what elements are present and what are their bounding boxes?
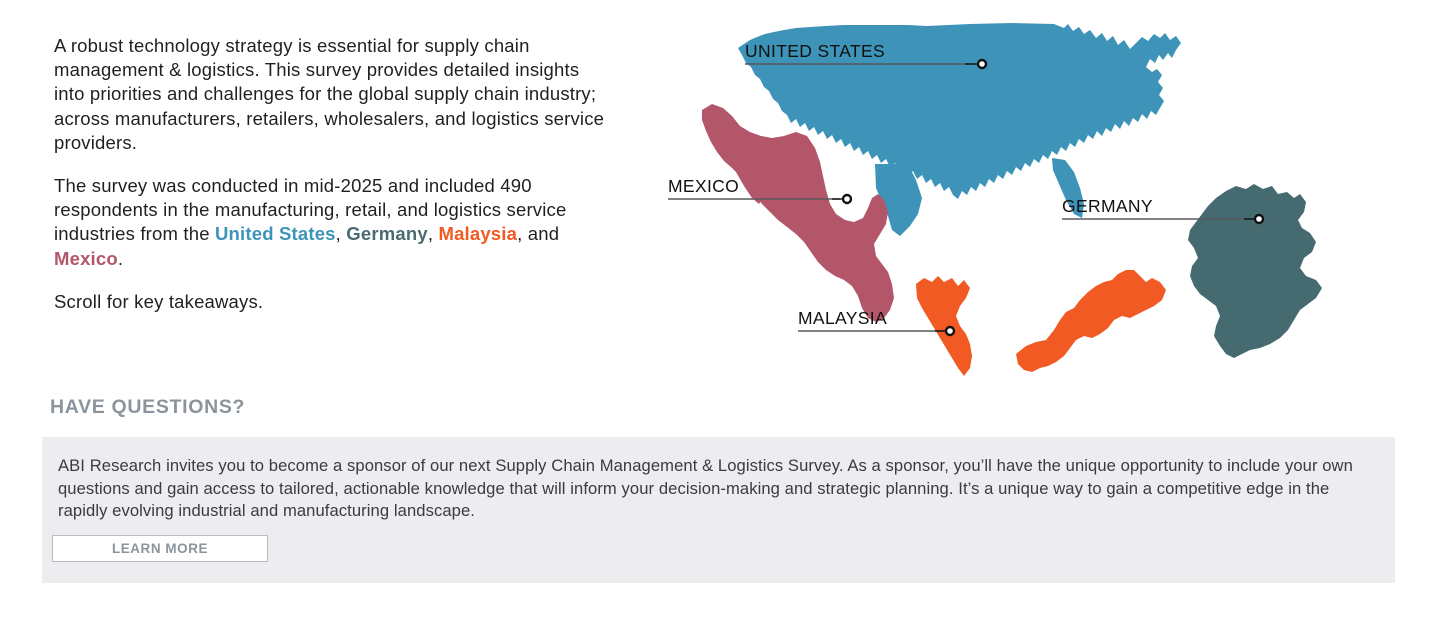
sponsor-callout-panel: ABI Research invites you to become a spo… bbox=[42, 437, 1395, 583]
intro-paragraph-1: A robust technology strategy is essentia… bbox=[54, 34, 614, 155]
map-marker-united-states bbox=[978, 60, 986, 68]
intro-text-column: A robust technology strategy is essentia… bbox=[54, 34, 614, 314]
separator-3: , and bbox=[517, 223, 559, 244]
learn-more-button[interactable]: LEARN MORE bbox=[52, 535, 268, 562]
have-questions-heading: HAVE QUESTIONS? bbox=[50, 396, 245, 419]
malaysia-peninsular-shape bbox=[916, 276, 972, 376]
intro-paragraph-3: Scroll for key takeaways. bbox=[54, 290, 614, 314]
map-marker-malaysia bbox=[946, 327, 954, 335]
map-svg: UNITED STATES MEXICO GERMANY MALAYSIA bbox=[660, 12, 1420, 402]
map-label-text-germany: GERMANY bbox=[1062, 196, 1153, 216]
map-marker-mexico bbox=[843, 195, 851, 203]
map-label-text-malaysia: MALAYSIA bbox=[798, 308, 887, 328]
separator-1: , bbox=[336, 223, 347, 244]
country-name-united-states: United States bbox=[215, 223, 336, 244]
map-label-text-mexico: MEXICO bbox=[668, 176, 739, 196]
map-label-text-united-states: UNITED STATES bbox=[745, 41, 885, 61]
intro-paragraph-2: The survey was conducted in mid-2025 and… bbox=[54, 174, 614, 271]
country-name-malaysia: Malaysia bbox=[438, 223, 517, 244]
country-name-germany: Germany bbox=[346, 223, 428, 244]
separator-4: . bbox=[118, 248, 123, 269]
germany-shape bbox=[1188, 184, 1322, 358]
country-name-mexico: Mexico bbox=[54, 248, 118, 269]
separator-2: , bbox=[428, 223, 439, 244]
learn-more-button-label: LEARN MORE bbox=[112, 541, 208, 556]
map-marker-germany bbox=[1255, 215, 1263, 223]
malaysia-borneo-shape bbox=[1016, 270, 1166, 372]
sponsor-description: ABI Research invites you to become a spo… bbox=[58, 455, 1368, 523]
survey-region-map: UNITED STATES MEXICO GERMANY MALAYSIA bbox=[660, 12, 1420, 402]
